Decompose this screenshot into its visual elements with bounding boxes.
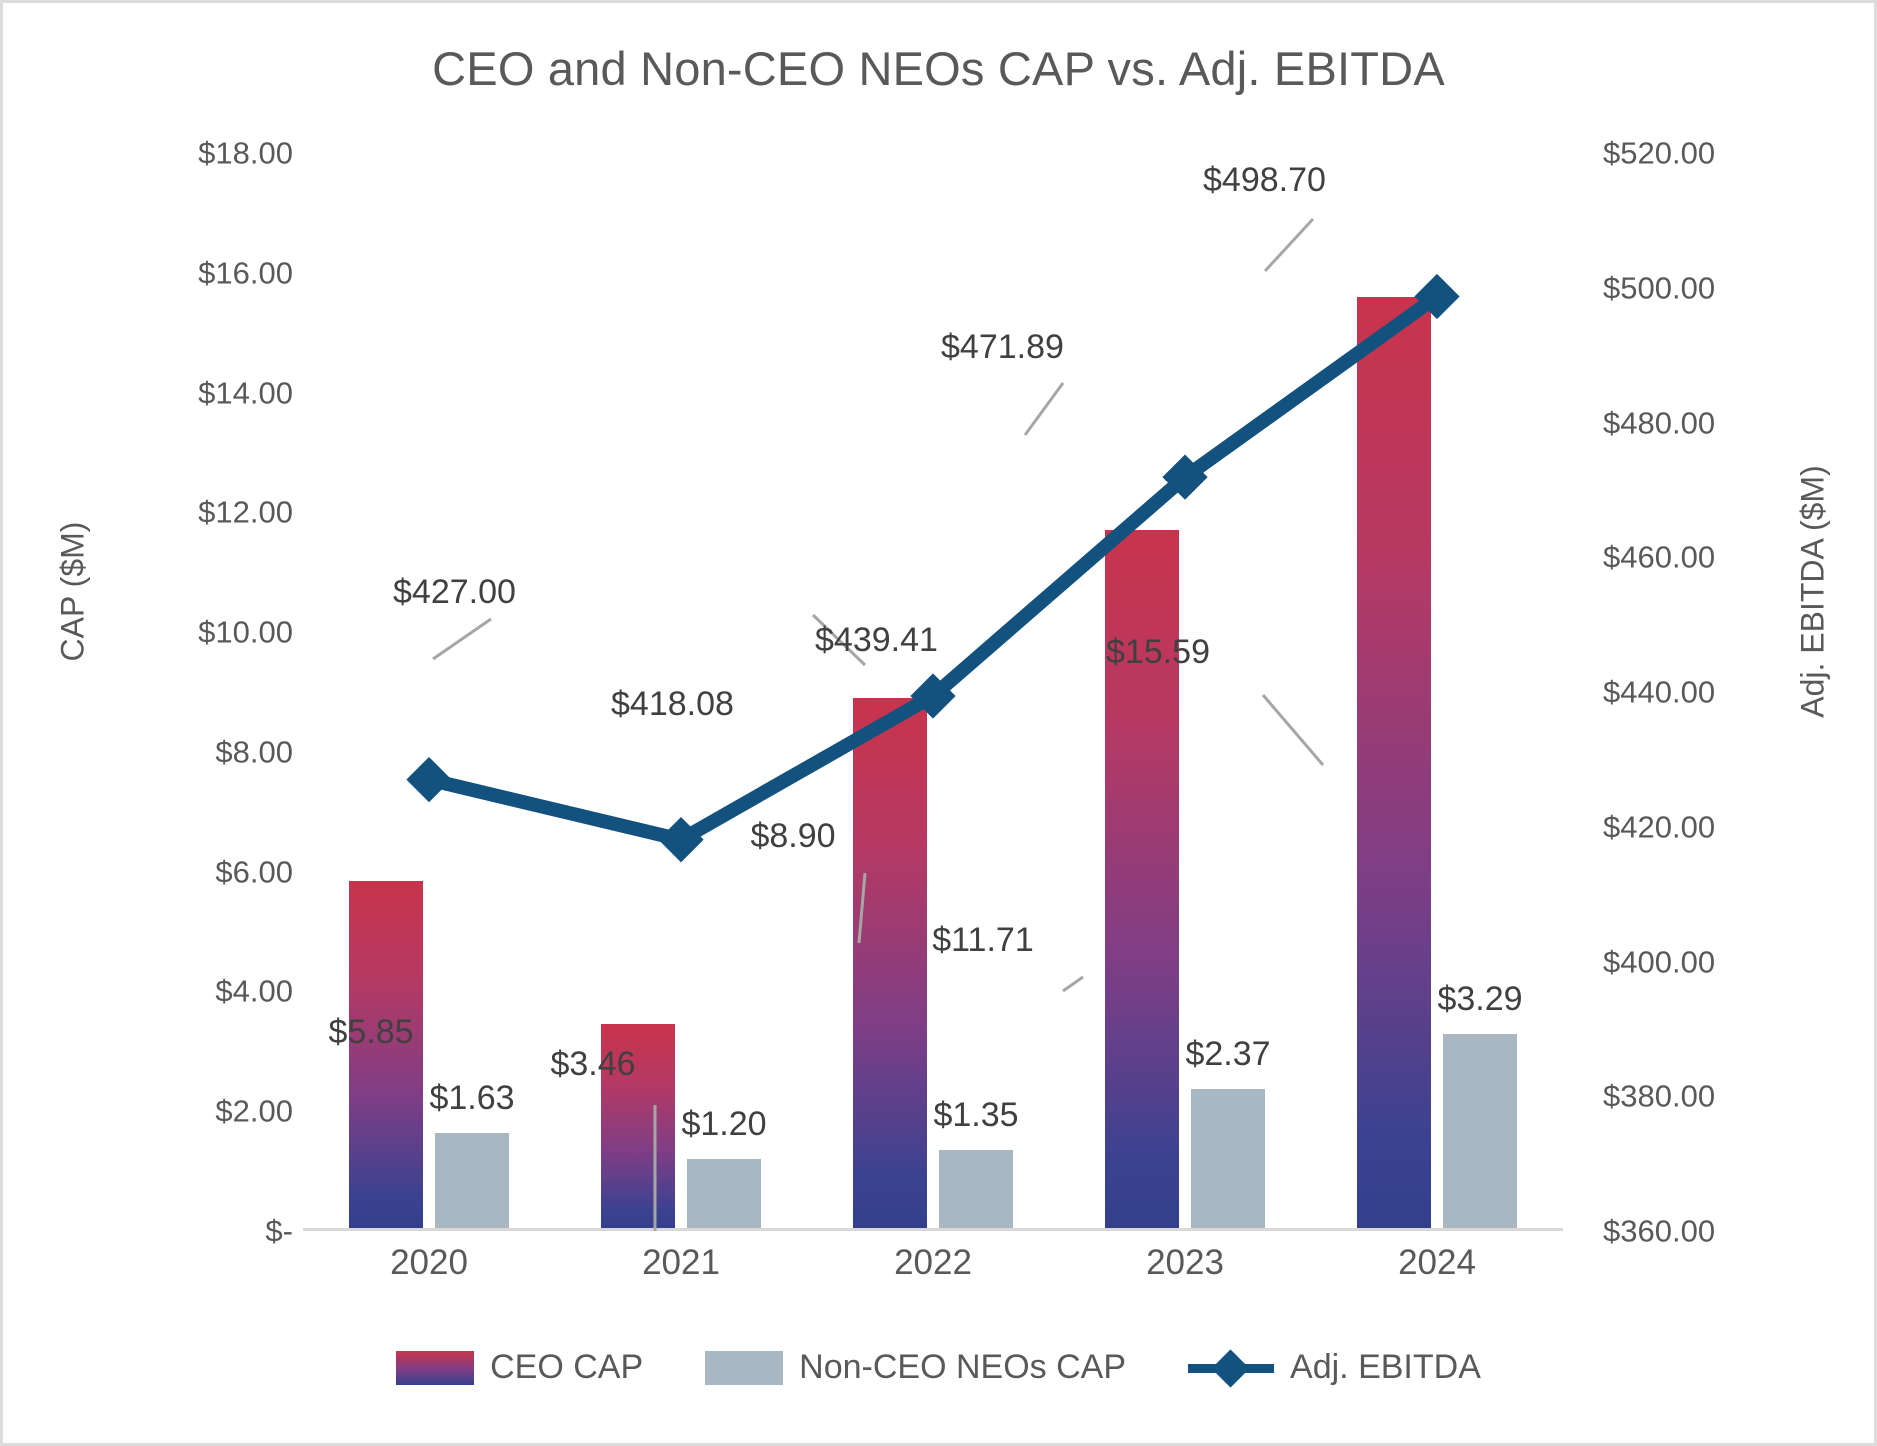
- data-label-non-ceo-neos-cap: $1.35: [933, 1098, 1018, 1132]
- right-axis-tick: $500.00: [1603, 272, 1715, 303]
- left-axis-tick: $4.00: [215, 976, 293, 1007]
- leader-line-adj-ebitda: [1025, 383, 1063, 435]
- bar-ceo-cap[interactable]: [1357, 297, 1431, 1231]
- leader-line-ceo-cap: [1063, 977, 1083, 991]
- right-axis-title: Adj. EBITDA ($M): [1795, 422, 1832, 762]
- chart-title: CEO and Non-CEO NEOs CAP vs. Adj. EBITDA: [3, 41, 1874, 96]
- plot-area: $1.63$1.20$1.35$2.37$3.29$5.85$3.46$8.90…: [303, 153, 1563, 1231]
- bar-non-ceo-neos-cap[interactable]: [939, 1150, 1013, 1231]
- right-axis-tick-labels: $520.00$500.00$480.00$460.00$440.00$420.…: [1603, 153, 1763, 1231]
- data-label-non-ceo-neos-cap: $1.63: [429, 1081, 514, 1115]
- adj-ebitda-marker[interactable]: [658, 817, 703, 862]
- left-axis-tick: $10.00: [198, 617, 293, 648]
- chart-legend: CEO CAP Non-CEO NEOs CAP Adj. EBITDA: [3, 1348, 1874, 1387]
- data-label-adj-ebitda: $471.89: [941, 330, 1064, 364]
- leader-line-ceo-cap: [1263, 695, 1323, 765]
- left-axis-tick: $8.00: [215, 736, 293, 767]
- right-axis-tick: $380.00: [1603, 1081, 1715, 1112]
- bar-non-ceo-neos-cap[interactable]: [1191, 1089, 1265, 1231]
- right-axis-tick: $460.00: [1603, 542, 1715, 573]
- left-axis-tick: $18.00: [198, 138, 293, 169]
- legend-label-ceo-cap: CEO CAP: [490, 1348, 643, 1387]
- x-axis-category-labels: 20202021202220232024: [303, 1243, 1563, 1303]
- right-axis-tick: $400.00: [1603, 946, 1715, 977]
- data-label-adj-ebitda: $439.41: [815, 623, 938, 657]
- data-label-non-ceo-neos-cap: $1.20: [681, 1107, 766, 1141]
- right-axis-tick: $520.00: [1603, 138, 1715, 169]
- bar-non-ceo-neos-cap[interactable]: [435, 1133, 509, 1231]
- adj-ebitda-marker[interactable]: [1162, 455, 1207, 500]
- data-label-ceo-cap: $8.90: [750, 819, 835, 853]
- data-label-non-ceo-neos-cap: $2.37: [1185, 1037, 1270, 1071]
- left-axis-tick: $14.00: [198, 377, 293, 408]
- x-axis-label: 2023: [1146, 1243, 1224, 1283]
- x-axis-label: 2020: [390, 1243, 468, 1283]
- data-label-ceo-cap: $11.71: [932, 923, 1033, 957]
- chart-container: CEO and Non-CEO NEOs CAP vs. Adj. EBITDA…: [0, 0, 1877, 1446]
- legend-item-non-ceo-neos-cap[interactable]: Non-CEO NEOs CAP: [705, 1348, 1126, 1387]
- left-axis-tick: $2.00: [215, 1096, 293, 1127]
- right-axis-tick: $440.00: [1603, 677, 1715, 708]
- data-label-adj-ebitda: $427.00: [393, 575, 516, 609]
- data-label-adj-ebitda: $498.70: [1203, 163, 1326, 197]
- left-axis-tick: $6.00: [215, 856, 293, 887]
- legend-label-non-ceo-neos-cap: Non-CEO NEOs CAP: [799, 1348, 1126, 1387]
- bar-ceo-cap[interactable]: [349, 881, 423, 1231]
- legend-item-adj-ebitda[interactable]: Adj. EBITDA: [1188, 1348, 1481, 1387]
- data-label-ceo-cap: $15.59: [1106, 635, 1210, 669]
- right-axis-tick: $480.00: [1603, 407, 1715, 438]
- legend-label-adj-ebitda: Adj. EBITDA: [1290, 1348, 1481, 1387]
- bar-non-ceo-neos-cap[interactable]: [1443, 1034, 1517, 1231]
- leader-line-adj-ebitda: [433, 619, 491, 659]
- ceo-cap-swatch-icon: [396, 1351, 474, 1385]
- legend-item-ceo-cap[interactable]: CEO CAP: [396, 1348, 643, 1387]
- adj-ebitda-line-diamond-icon: [1188, 1351, 1274, 1385]
- bar-non-ceo-neos-cap[interactable]: [687, 1159, 761, 1231]
- x-axis-baseline: [303, 1228, 1563, 1231]
- adj-ebitda-line: [429, 297, 1437, 840]
- right-axis-tick: $420.00: [1603, 811, 1715, 842]
- leader-line-adj-ebitda: [1265, 219, 1313, 271]
- data-label-ceo-cap: $5.85: [328, 1015, 413, 1049]
- non-ceo-neos-cap-swatch-icon: [705, 1351, 783, 1385]
- left-axis-tick: $16.00: [198, 257, 293, 288]
- bar-ceo-cap[interactable]: [853, 698, 927, 1231]
- left-axis-tick: $12.00: [198, 497, 293, 528]
- x-axis-label: 2021: [642, 1243, 720, 1283]
- data-label-adj-ebitda: $418.08: [611, 687, 734, 721]
- right-axis-tick: $360.00: [1603, 1216, 1715, 1247]
- left-axis-title: CAP ($M): [55, 462, 92, 722]
- data-label-non-ceo-neos-cap: $3.29: [1437, 982, 1522, 1016]
- x-axis-label: 2024: [1398, 1243, 1476, 1283]
- x-axis-label: 2022: [894, 1243, 972, 1283]
- adj-ebitda-marker[interactable]: [406, 757, 451, 802]
- data-label-ceo-cap: $3.46: [550, 1047, 635, 1081]
- left-axis-tick: $-: [265, 1216, 293, 1247]
- left-axis-tick-labels: $18.00$16.00$14.00$12.00$10.00$8.00$6.00…: [133, 153, 293, 1231]
